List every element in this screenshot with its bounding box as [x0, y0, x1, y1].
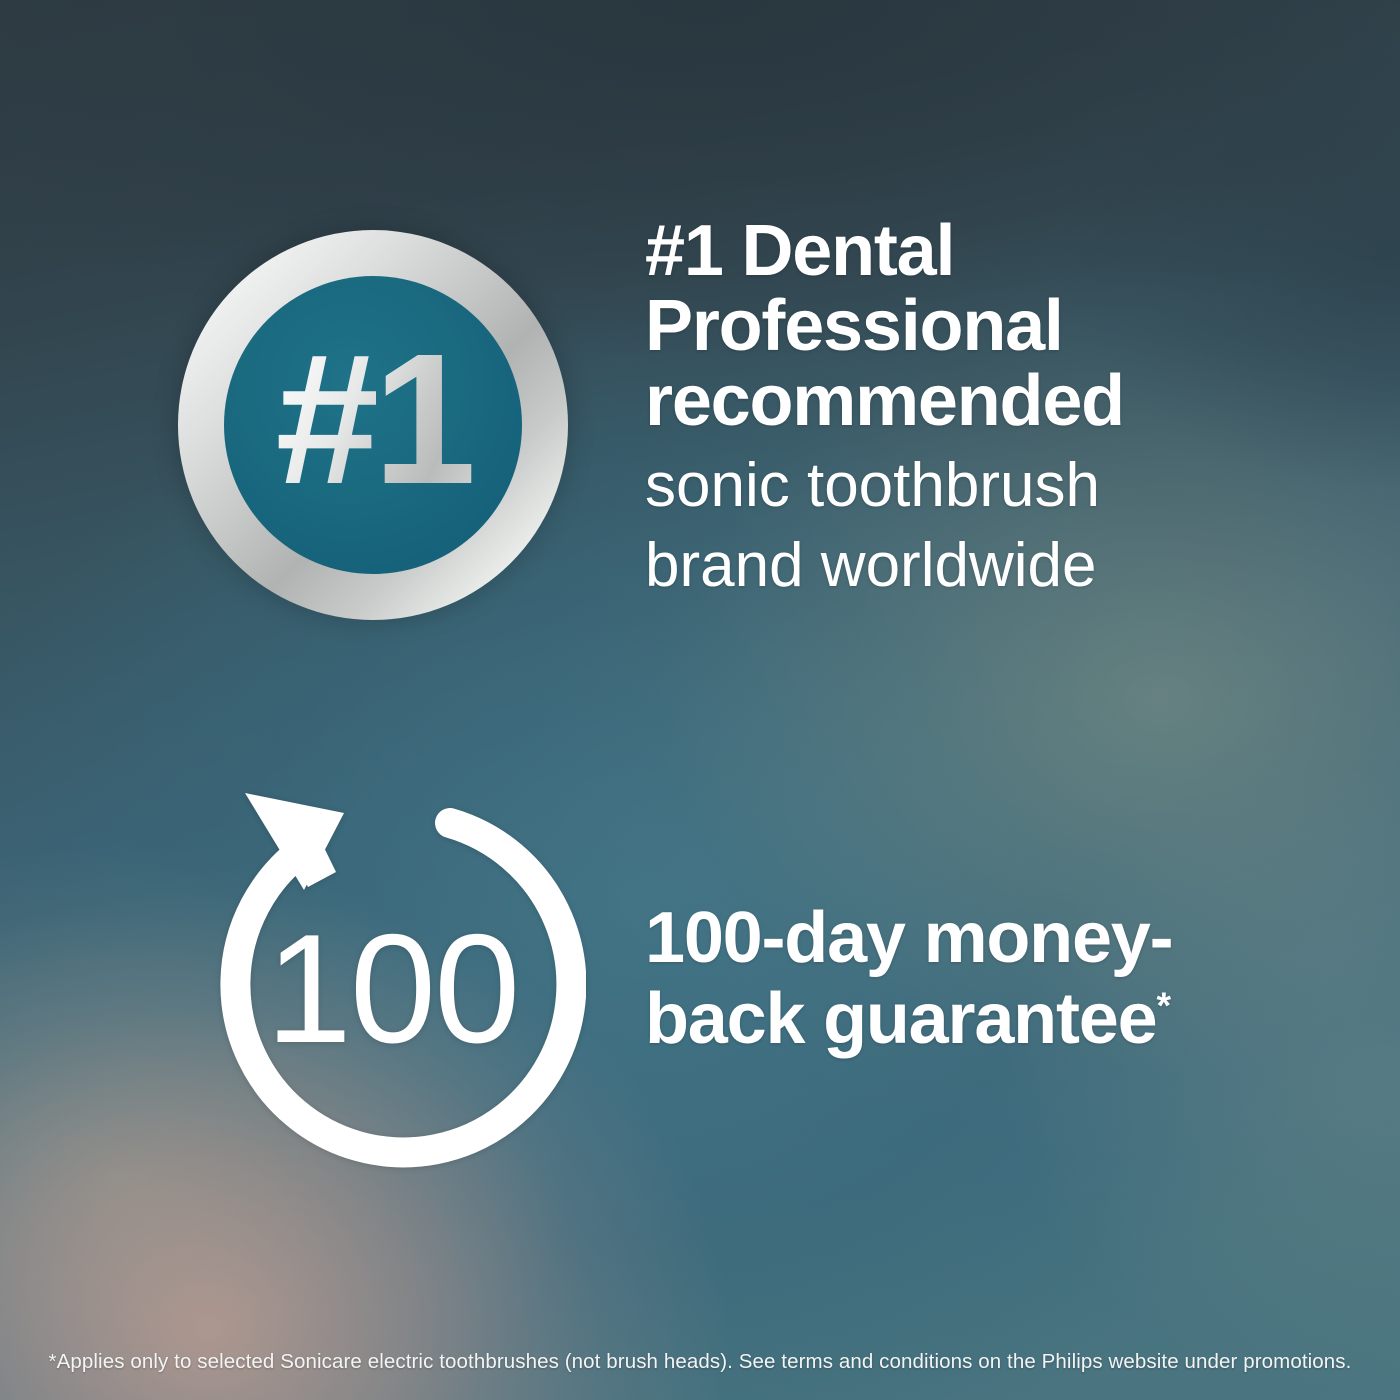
feature-two-text-block: 100-day money- back guarantee* — [645, 898, 1345, 1059]
feature-one-text-block: #1 Dental Professional recommended sonic… — [645, 214, 1345, 607]
circular-arrow-100-icon: 100 — [196, 780, 586, 1170]
feature-two-headline-line-2-text: back guarantee — [645, 979, 1156, 1059]
footnote-asterisk: * — [1156, 984, 1169, 1026]
feature-one-subline: sonic toothbrush brand worldwide — [645, 446, 1345, 607]
feature-one-headline-line-1: #1 Dental — [645, 214, 1345, 289]
circular-arrow-100-label: 100 — [266, 902, 519, 1075]
background-veil — [0, 0, 1400, 1400]
promo-banner: #1 #1 Dental Professional recommended so… — [0, 0, 1400, 1400]
feature-one-subline-line-2: brand worldwide — [645, 526, 1345, 607]
badge-number-one-label: #1 — [178, 230, 568, 620]
feature-two-headline-line-1: 100-day money- — [645, 898, 1345, 979]
feature-one-subline-line-1: sonic toothbrush — [645, 446, 1345, 527]
feature-two-headline-line-2: back guarantee* — [645, 979, 1345, 1060]
feature-one-headline-line-2: Professional — [645, 289, 1345, 364]
feature-one-headline-line-3: recommended — [645, 364, 1345, 439]
footer-disclaimer: *Applies only to selected Sonicare elect… — [0, 1350, 1400, 1374]
number-one-badge-icon: #1 — [178, 230, 568, 620]
